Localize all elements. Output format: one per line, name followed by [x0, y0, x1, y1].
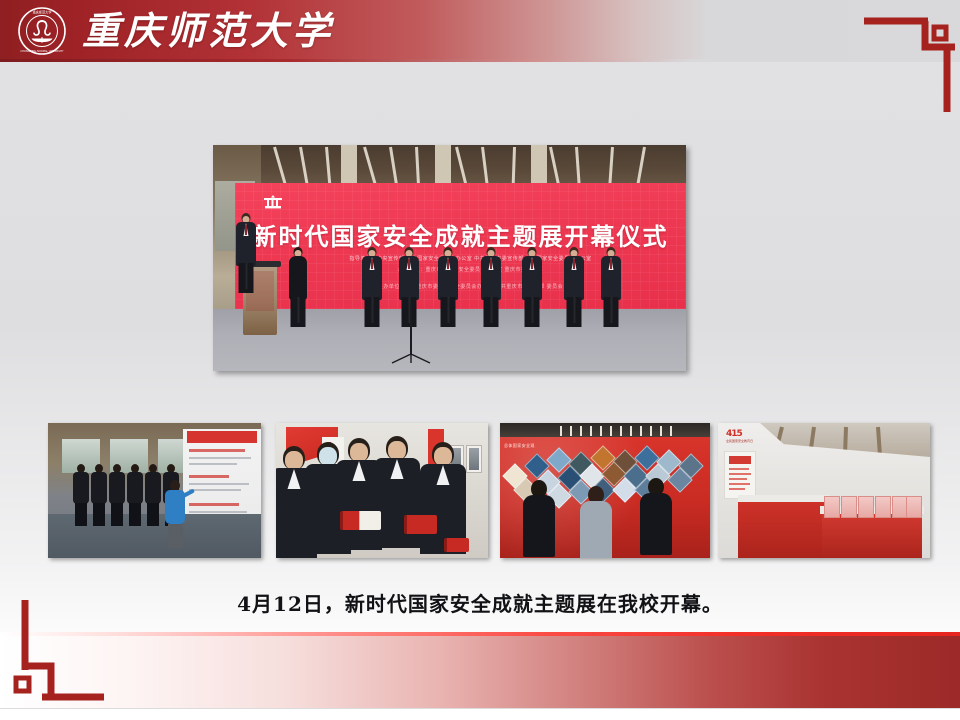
visitor [522, 480, 556, 558]
national-emblem-icon [262, 195, 284, 211]
thumb-material-desk: 415 全民国家安全教育日 [718, 423, 930, 558]
red-booklet [444, 538, 469, 552]
person-host [287, 247, 309, 327]
microphone-stand [410, 305, 412, 355]
visitor [108, 464, 125, 526]
chinese-corner-ornament-icon-top-right [864, 8, 960, 112]
wall-label: 总体国家安全观 [504, 443, 535, 449]
person-guest-5 [521, 247, 543, 327]
university-seal-icon: 重庆师范大学 CHONGQING NORMAL UNIVERSITY [18, 7, 66, 55]
red-booklet [340, 511, 381, 530]
visitor [72, 464, 89, 526]
slide-caption: 4月12日，新时代国家安全成就主题展在我校开幕。 [0, 588, 960, 617]
person-speaker [235, 213, 257, 293]
logo-number: 415 [726, 429, 742, 439]
wall-poster [724, 451, 756, 499]
visitor [144, 464, 161, 526]
chinese-corner-ornament-icon-bottom-left [12, 600, 112, 710]
slide-header: 重庆师范大学 CHONGQING NORMAL UNIVERSITY 重庆师范大… [0, 0, 960, 62]
exhibition-guide [165, 480, 187, 552]
person-guest-3 [437, 247, 459, 327]
visitor [90, 464, 107, 526]
official [372, 436, 422, 558]
ceremony-banner-line3: 主办单位：中共重庆市委国家安全委员会办公室 中共重庆市委宣传部 委员会 [305, 283, 636, 290]
svg-text:CHONGQING NORMAL UNIVERSITY: CHONGQING NORMAL UNIVERSITY [20, 49, 64, 53]
ceremony-banner-line1: 指导单位：中央宣传部 中央国家安全委员会办公室 中共重庆市委宣传部 中央国家安全… [295, 255, 646, 262]
visitor [638, 478, 674, 558]
person-guest-2 [398, 247, 420, 327]
thumb-red-photo-wall: 总体国家安全观 [500, 423, 710, 558]
visitor [580, 486, 612, 558]
university-name-title: 重庆师范大学 [82, 6, 334, 56]
thumb-exhibition-tour [48, 423, 261, 558]
slide-root: 重庆师范大学 CHONGQING NORMAL UNIVERSITY 重庆师范大… [0, 0, 960, 720]
person-guest-6 [563, 247, 585, 327]
svg-text:重庆师范大学: 重庆师范大学 [32, 10, 51, 15]
bottom-white-strip [0, 708, 960, 720]
microphone-tripod [390, 351, 432, 361]
red-booklet [404, 515, 437, 534]
visitor [126, 464, 143, 526]
logo-subtitle: 全民国家安全教育日 [726, 439, 753, 443]
visitor [54, 464, 71, 526]
person-guest-7 [600, 247, 622, 327]
opening-ceremony-photo: 新时代国家安全成就主题展开幕仪式 指导单位：中央宣传部 中央国家安全委员会办公室… [213, 145, 686, 371]
person-guest-4 [480, 247, 502, 327]
bottom-decor-band [0, 632, 960, 708]
national-security-day-logo: 415 全民国家安全教育日 [726, 429, 753, 443]
thumb-officials-booklets [276, 423, 488, 558]
person-guest-1 [361, 247, 383, 327]
